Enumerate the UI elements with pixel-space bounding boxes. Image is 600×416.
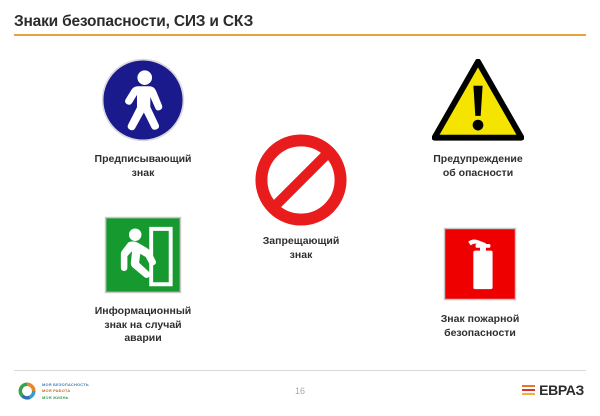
sign-item-warning: Предупреждение об опасности	[380, 54, 576, 180]
slide-canvas: Знаки безопасности, СИЗ и СКЗ Предписыва…	[0, 0, 600, 416]
emergency-exit-sign-icon	[48, 212, 238, 298]
evraz-logo: ЕВРАЗ	[522, 382, 584, 398]
warning-triangle-sign-icon	[380, 54, 576, 146]
title-underline-rule	[14, 34, 586, 36]
footer-divider	[14, 370, 586, 371]
sign-item-prohibition: Запрещающий знак	[215, 132, 387, 262]
sign-caption: Запрещающий знак	[215, 235, 387, 262]
sign-caption: Информационный знак на случай аварии	[48, 305, 238, 346]
sign-item-emergency: Информационный знак на случай аварии	[48, 212, 238, 346]
sign-caption: Знак пожарной безопасности	[392, 313, 568, 340]
slide-footer: МОЯ БЕЗОПАСНОСТЬ МОЯ РАБОТА МОЯ ЖИЗНЬ 16…	[0, 370, 600, 416]
sign-caption: Предупреждение об опасности	[380, 153, 576, 180]
sign-item-fire: Знак пожарной безопасности	[392, 222, 568, 340]
page-number: 16	[0, 386, 600, 396]
safety-signs-grid: Предписывающий знак Предупреждение об оп…	[0, 50, 600, 370]
fire-extinguisher-sign-icon	[392, 222, 568, 306]
sign-item-mandatory: Предписывающий знак	[48, 54, 238, 180]
sign-caption: Предписывающий знак	[48, 153, 238, 180]
evraz-bars-icon	[522, 385, 535, 396]
prohibition-circle-sign-icon	[215, 132, 387, 228]
page-title: Знаки безопасности, СИЗ и СКЗ	[14, 12, 586, 31]
evraz-wordmark: ЕВРАЗ	[539, 382, 584, 398]
slide-header: Знаки безопасности, СИЗ и СКЗ	[14, 12, 586, 36]
mandatory-pedestrian-sign-icon	[48, 54, 238, 146]
